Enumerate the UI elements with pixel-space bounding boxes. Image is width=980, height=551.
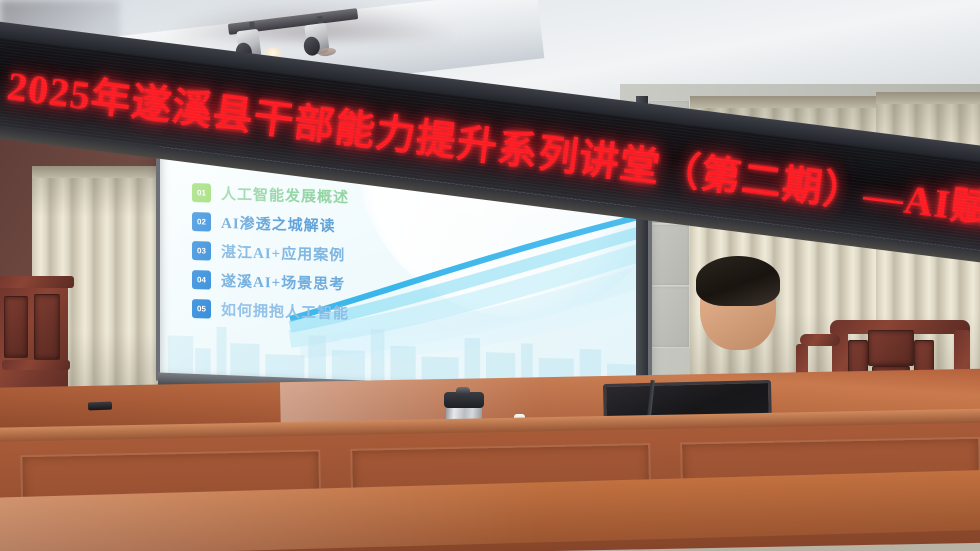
- chair-left-rail: [2, 360, 70, 370]
- wall-tile: [648, 286, 690, 348]
- thermos-cap: [444, 392, 484, 408]
- chair-left-crest: [0, 276, 74, 288]
- remote-control: [88, 402, 112, 411]
- speaker-hair: [696, 256, 780, 306]
- ear-right: [772, 298, 784, 318]
- conference-room-scene: 目录 Contents 01 人工智能发展概述 02 AI渗透之城解读 03 湛…: [0, 0, 980, 551]
- chair-carving: [4, 296, 28, 358]
- thermos-knob: [456, 387, 470, 394]
- chair-carving: [868, 330, 914, 366]
- chair-carving: [34, 294, 60, 360]
